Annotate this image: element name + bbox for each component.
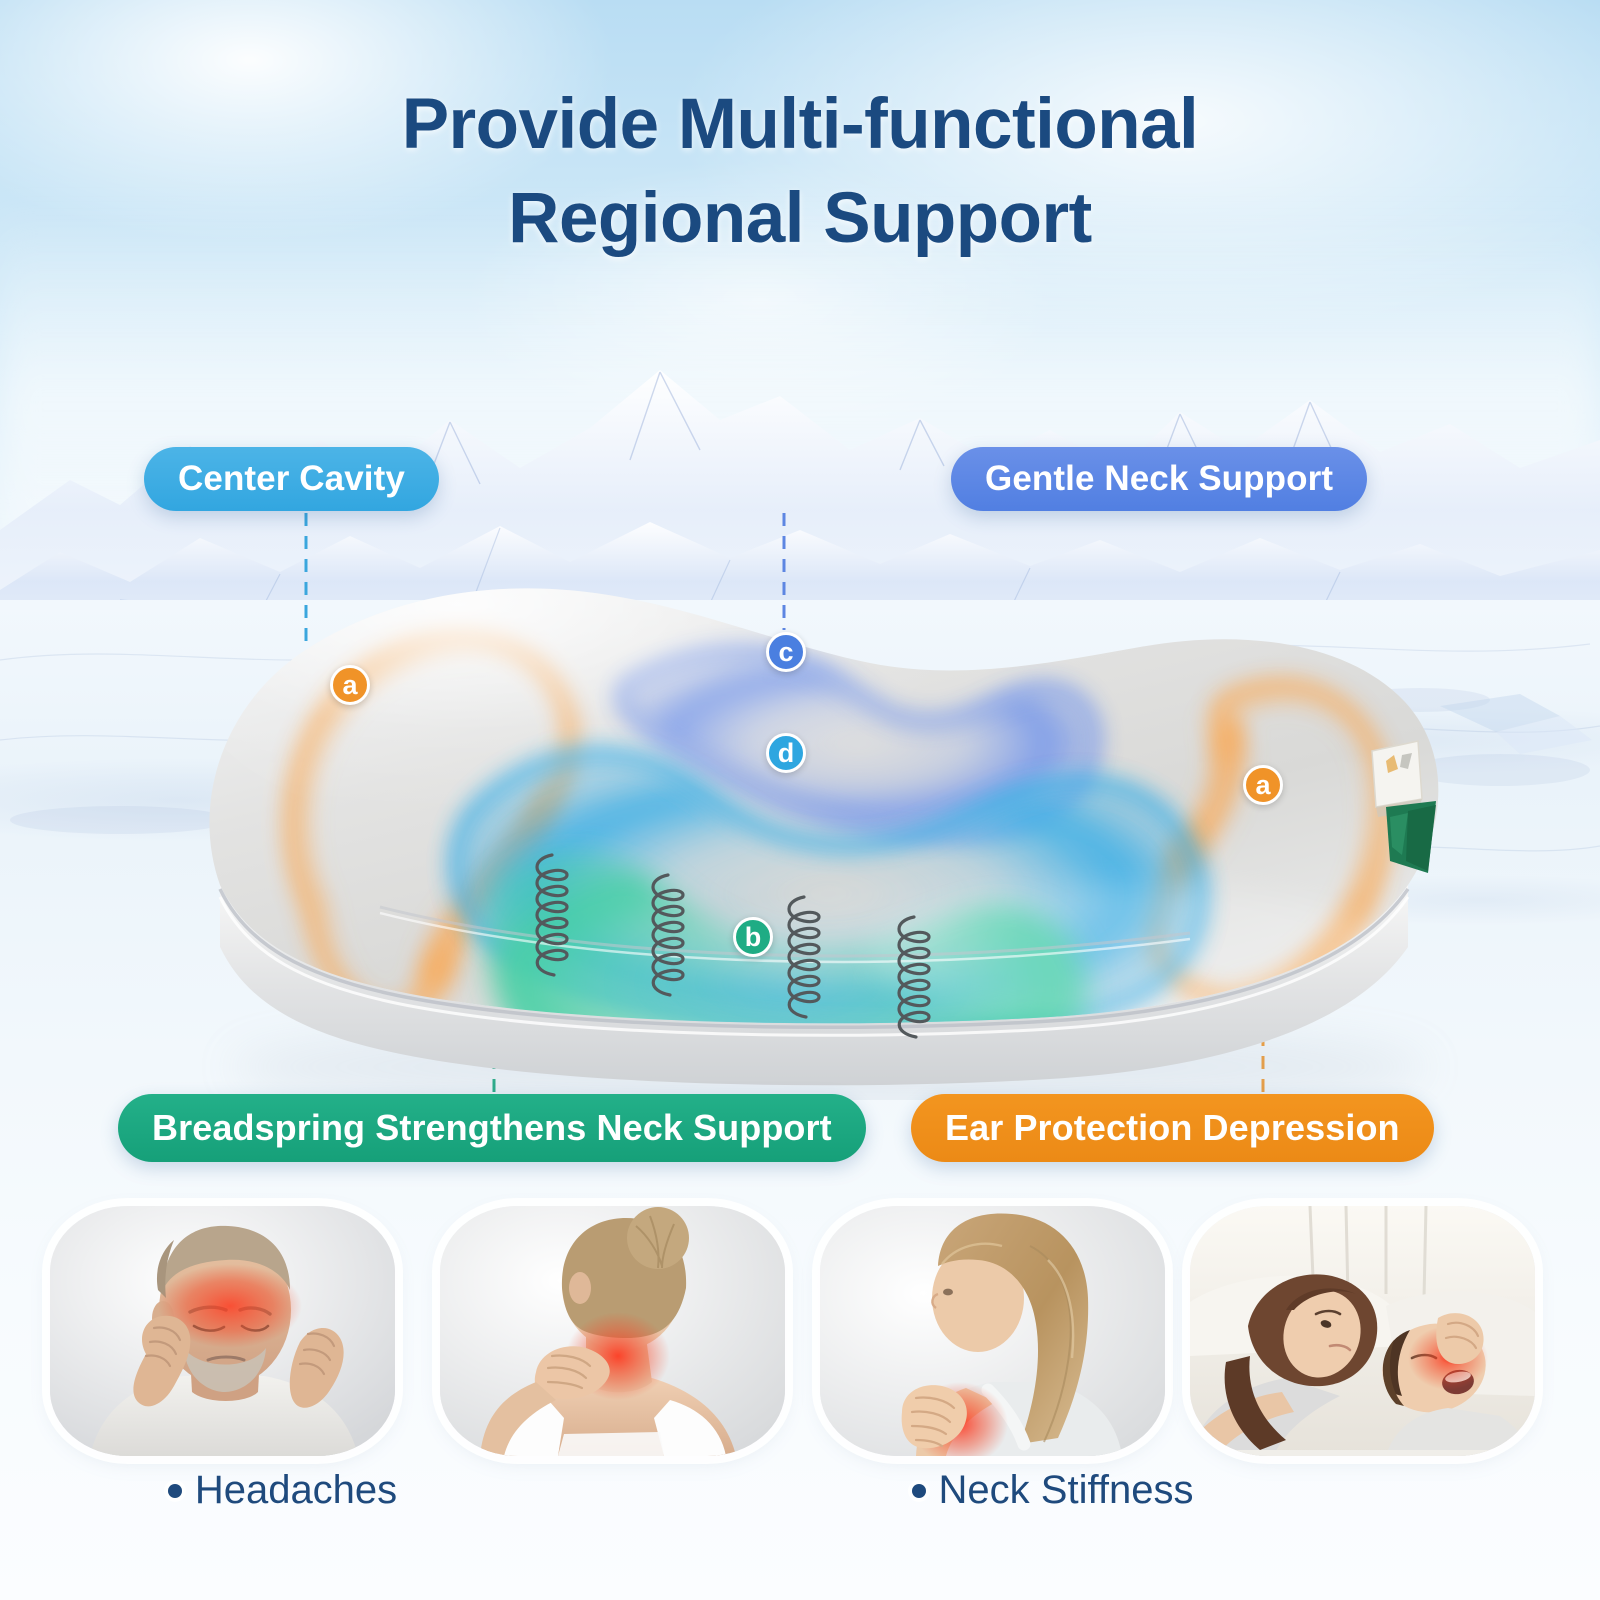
symptom-card-headaches: Headaches — [50, 1206, 395, 1456]
photo-headaches — [50, 1206, 395, 1456]
photo-neck-stiffness — [440, 1206, 785, 1456]
caption-text: Headaches — [195, 1468, 397, 1513]
pillow-illustration — [150, 555, 1470, 1100]
bullet-dot — [168, 1484, 182, 1498]
badge-gentle-neck-support: Gentle Neck Support — [951, 447, 1367, 511]
marker-d: d — [766, 733, 806, 773]
photo-snoring — [1190, 1206, 1535, 1456]
symptom-card-neck-stiffness: Neck Stiffness — [440, 1206, 785, 1456]
photo-shoulder-soreness — [820, 1206, 1165, 1456]
caption-text: Neck Stiffness — [939, 1468, 1194, 1513]
marker-c: c — [766, 632, 806, 672]
infographic-canvas: Provide Multi-functional Regional Suppor… — [0, 0, 1600, 1600]
symptom-card-row: Headaches — [0, 1206, 1600, 1506]
headaches-illustration — [50, 1206, 395, 1456]
marker-a-right: a — [1243, 765, 1283, 805]
neck-stiffness-illustration — [440, 1206, 785, 1456]
symptom-card-shoulder-soreness: Shoulder Soreness — [820, 1206, 1165, 1456]
badge-center-cavity: Center Cavity — [144, 447, 439, 511]
marker-a-left: a — [330, 665, 370, 705]
pillow-diagram — [150, 555, 1470, 1100]
caption-neck-stiffness: Neck Stiffness — [880, 1468, 1225, 1513]
snoring-illustration — [1190, 1206, 1535, 1456]
badge-breadspring: Breadspring Strengthens Neck Support — [118, 1094, 866, 1162]
caption-headaches: Headaches — [110, 1468, 455, 1513]
bullet-dot — [912, 1484, 926, 1498]
marker-b: b — [733, 917, 773, 957]
symptom-card-snoring: Snoring — [1190, 1206, 1535, 1456]
badge-ear-protection: Ear Protection Depression — [911, 1094, 1434, 1162]
shoulder-soreness-illustration — [820, 1206, 1165, 1456]
